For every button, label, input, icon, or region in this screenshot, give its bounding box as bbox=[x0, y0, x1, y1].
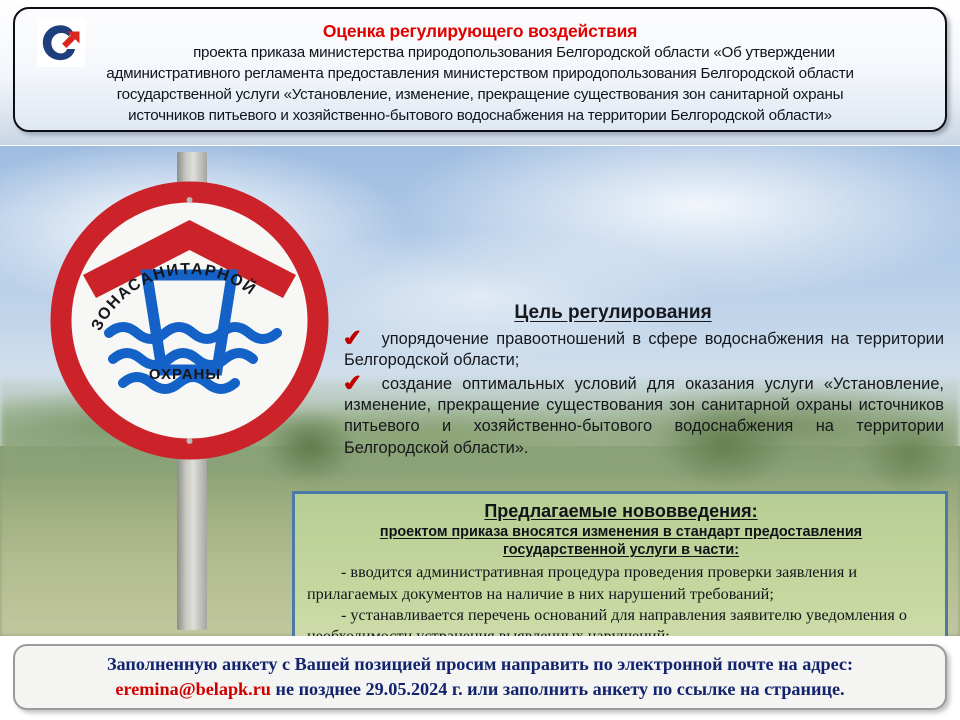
innovations-list-item: - вводится административная процедура пр… bbox=[307, 562, 935, 604]
innovations-panel: Предлагаемые нововведения: проектом прик… bbox=[292, 491, 948, 636]
sanitary-protection-zone-road-sign: ЗОНА САНИТАРНОЙ ОХРАНЫ bbox=[40, 152, 330, 622]
goal-item: ✔упорядочение правоотношений в сфере вод… bbox=[344, 328, 944, 372]
goal-section: Цель регулирования ✔упорядочение правоот… bbox=[344, 302, 944, 460]
goal-item-label: упорядочение правоотношений в сфере водо… bbox=[344, 330, 944, 369]
innovations-title: Предлагаемые нововведения: bbox=[307, 501, 935, 523]
header-subtitle: проекта приказа министерства природополь… bbox=[29, 43, 931, 127]
innovations-list-item: - устанавливается перечень оснований для… bbox=[307, 605, 935, 636]
header-subtitle-line: государственной услуги «Установление, из… bbox=[33, 85, 927, 106]
goal-item: ✔создание оптимальных условий для оказан… bbox=[344, 373, 944, 459]
header-subtitle-line: источников питьевого и хозяйственно-быто… bbox=[33, 106, 927, 127]
red-checkmark-icon: ✔ bbox=[341, 327, 364, 351]
sign-face-icon: ЗОНА САНИТАРНОЙ bbox=[47, 178, 332, 463]
sign-text-ohrany: ОХРАНЫ bbox=[40, 366, 330, 383]
innovations-subtitle-line: государственной услуги в части: bbox=[307, 541, 935, 559]
contact-email-link[interactable]: eremina@belapk.ru bbox=[115, 679, 271, 699]
page-title: Оценка регулирующего воздействия bbox=[29, 22, 931, 41]
sign-pole-bottom bbox=[177, 444, 207, 630]
footer-line-1: Заполненную анкету с Вашей позицией прос… bbox=[107, 652, 853, 677]
goal-title: Цель регулирования bbox=[344, 302, 944, 324]
goal-item-label: создание оптимальных условий для оказани… bbox=[344, 375, 944, 457]
footer-line-2-rest: не позднее 29.05.2024 г. или заполнить а… bbox=[271, 679, 845, 699]
belgorod-ora-logo-icon bbox=[37, 19, 85, 67]
header-subtitle-line: проекта приказа министерства природополь… bbox=[33, 43, 927, 64]
innovations-list: - вводится административная процедура пр… bbox=[307, 562, 935, 636]
red-checkmark-icon: ✔ bbox=[341, 371, 364, 395]
innovations-subtitle-line: проектом приказа вносятся изменения в ст… bbox=[307, 523, 935, 541]
header-panel: Оценка регулирующего воздействия проекта… bbox=[13, 7, 947, 132]
header-subtitle-line: административного регламента предоставле… bbox=[33, 64, 927, 85]
footer-panel: Заполненную анкету с Вашей позицией прос… bbox=[13, 644, 947, 710]
footer-line-2: eremina@belapk.ru не позднее 29.05.2024 … bbox=[115, 677, 844, 702]
background-photo: ЗОНА САНИТАРНОЙ ОХРАНЫ Цель регулировани… bbox=[0, 146, 960, 636]
slide-root: Оценка регулирующего воздействия проекта… bbox=[0, 0, 960, 720]
